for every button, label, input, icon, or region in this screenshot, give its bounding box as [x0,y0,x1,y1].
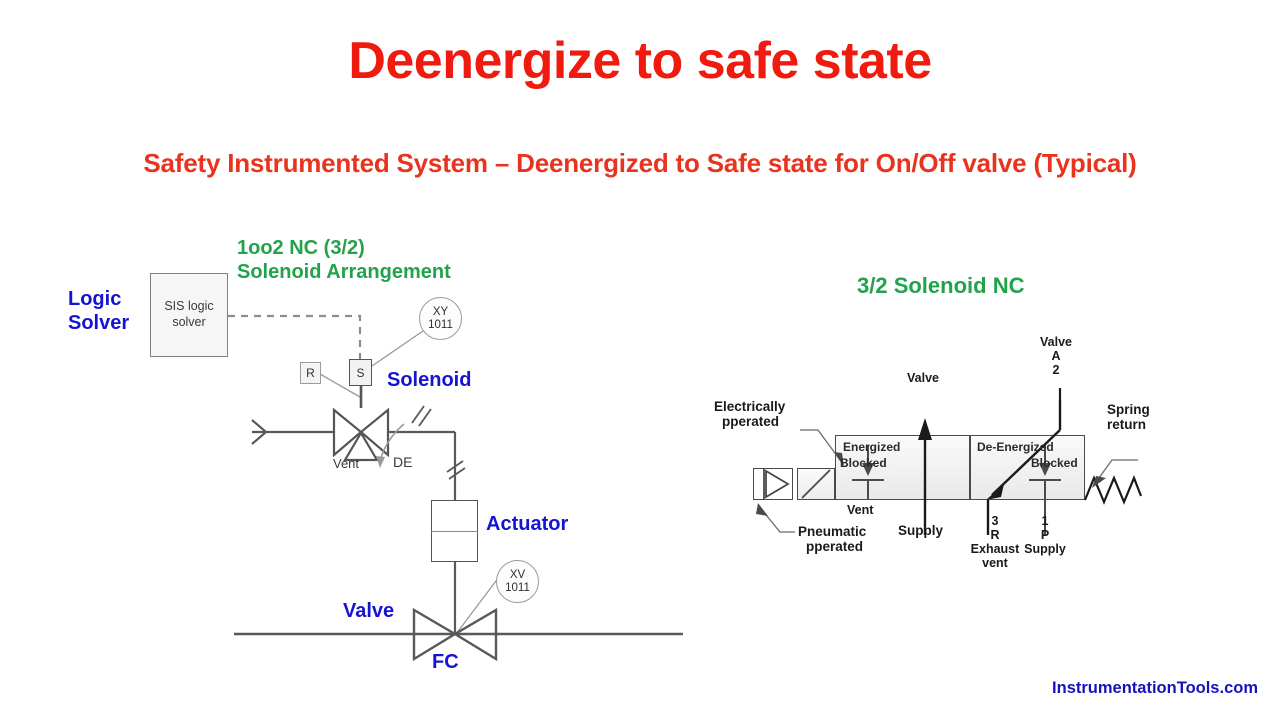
valve-port-a-number: 2 [1038,363,1074,377]
valve-port-a-title: Valve [1038,335,1074,349]
slide-canvas: Deenergize to safe state Safety Instrume… [0,0,1280,720]
solenoid-label: Solenoid [387,369,471,393]
right-diagram-lines [700,300,1220,640]
pneumatic-operated-line2: pperated [798,539,866,554]
electrically-operated-line1: Electrically [714,399,785,414]
valve-port-a-letter: A [1038,349,1074,363]
spring-return-label: Spring return [1107,402,1150,432]
right-diagram-title: 3/2 Solenoid NC [857,273,1024,299]
supply-arrow-energized [918,418,932,535]
bubble-xy-tag: XY [433,306,448,319]
electrical-operator-diagonal [802,470,830,498]
signal-line-sis-to-solenoid [228,316,360,359]
valve-label-right: Valve [907,371,939,385]
pneumatic-operated-label: Pneumatic pperated [798,524,866,554]
instrument-bubble-xv-1011[interactable]: XV 1011 [496,560,539,603]
pneumatic-slash-marks [412,406,465,479]
bubble-xv-number: 1011 [505,582,530,595]
supply-port-number: 1 [1015,514,1075,528]
leader-pneumatic-operated [756,503,795,532]
electrically-operated-label: Electrically pperated [714,399,785,429]
electrically-operated-line2: pperated [714,414,785,429]
reset-box[interactable]: R [300,362,321,384]
valve-port-a-label: Valve A 2 [1038,335,1074,377]
solenoid-valve-symbol [334,410,388,460]
valve-label: Valve [343,600,394,624]
pneumatic-operator-triangle [764,468,788,500]
bubble-xv-tag: XV [510,569,525,582]
vent-label: Vent [333,456,359,471]
bubble-xy-number: 1011 [428,319,453,332]
leader-electrically-operated [800,430,844,467]
leader-xv-bubble [456,577,499,634]
blocked-label-energized: Blocked [840,456,887,470]
leader-xy-bubble [372,331,423,366]
spring-return-line1: Spring [1107,402,1150,417]
spring-return-symbol [1085,478,1141,502]
fail-closed-label: FC [432,651,459,675]
actuator-divider [431,531,478,532]
spring-return-line2: return [1107,417,1150,432]
deenergized-chamber-label: De-Energized [977,440,1054,454]
pneumatic-operated-line1: Pneumatic [798,524,866,539]
energized-chamber-label: Energized [843,440,900,454]
supply-inlet-arrow [252,420,334,444]
supply-port-label: 1 P Supply [1015,514,1075,556]
site-watermark: InstrumentationTools.com [1052,679,1258,698]
supply-port-letter: P [1015,528,1075,542]
vent-label-right: Vent [847,503,873,517]
supply-label-right: Supply [898,523,943,538]
actuator-label: Actuator [486,513,568,537]
solenoid-set-box[interactable]: S [349,359,372,386]
blocked-label-deenergized: Blocked [1031,456,1078,470]
exhaust-line2: vent [960,556,1030,570]
instrument-bubble-xy-1011[interactable]: XY 1011 [419,297,462,340]
de-label: DE [393,454,412,470]
supply-port-text: Supply [1015,542,1075,556]
